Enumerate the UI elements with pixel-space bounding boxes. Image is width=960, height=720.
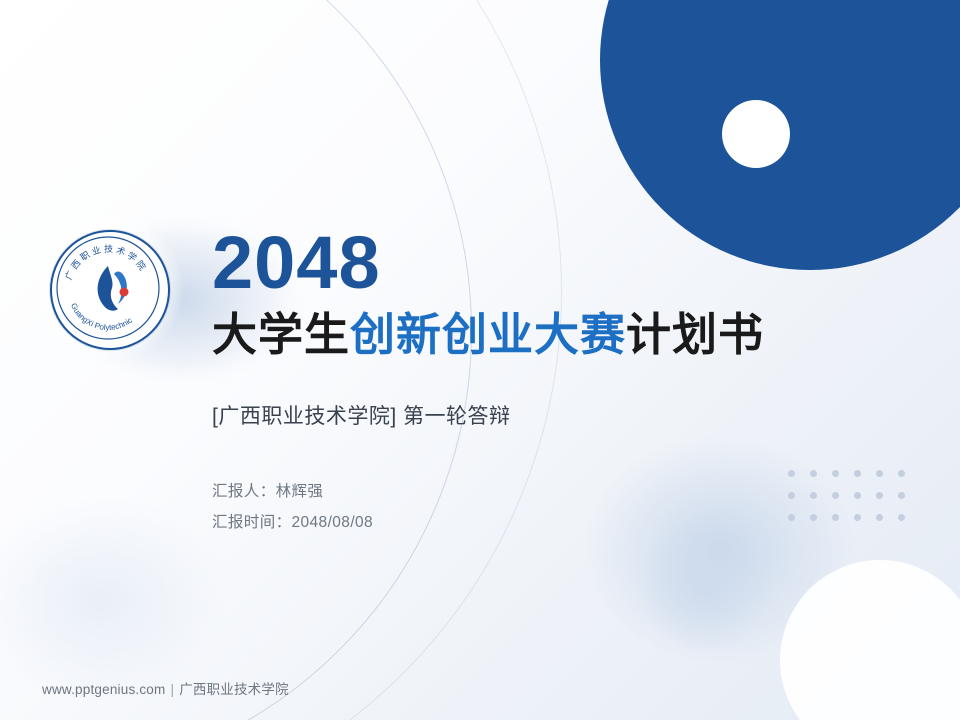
page-title: 大学生创新创业大赛计划书: [212, 310, 912, 360]
decorative-white-dot: [722, 100, 790, 168]
subtitle: [广西职业技术学院] 第一轮答辩: [212, 400, 912, 430]
title-part-2-highlight: 创新创业大赛: [350, 309, 626, 360]
logo-emblem-icon: 广 西 职 业 技 术 学 院 GuangXi Polytechnic: [52, 232, 164, 344]
school-logo: 广 西 职 业 技 术 学 院 GuangXi Polytechnic: [42, 222, 174, 354]
title-part-3: 计划书: [626, 309, 764, 360]
presentation-slide: 广 西 职 业 技 术 学 院 GuangXi Polytechnic 2048…: [0, 0, 960, 720]
footer-org: 广西职业技术学院: [179, 682, 289, 697]
date-line: 汇报时间：2048/08/08: [212, 507, 912, 538]
title-block: 2048 大学生创新创业大赛计划书 [广西职业技术学院] 第一轮答辩 汇报人：林…: [212, 226, 912, 538]
year-heading: 2048: [212, 226, 912, 300]
meta-block: 汇报人：林辉强 汇报时间：2048/08/08: [212, 476, 912, 538]
svg-text:GuangXi Polytechnic: GuangXi Polytechnic: [69, 302, 134, 332]
logo-badge: 广 西 职 业 技 术 学 院 GuangXi Polytechnic: [50, 230, 170, 350]
footer-site: www.pptgenius.com: [42, 682, 165, 697]
title-part-1: 大学生: [212, 309, 350, 360]
footer-separator: |: [170, 682, 174, 697]
footer: www.pptgenius.com|广西职业技术学院: [42, 678, 289, 698]
presenter-line: 汇报人：林辉强: [212, 476, 912, 507]
